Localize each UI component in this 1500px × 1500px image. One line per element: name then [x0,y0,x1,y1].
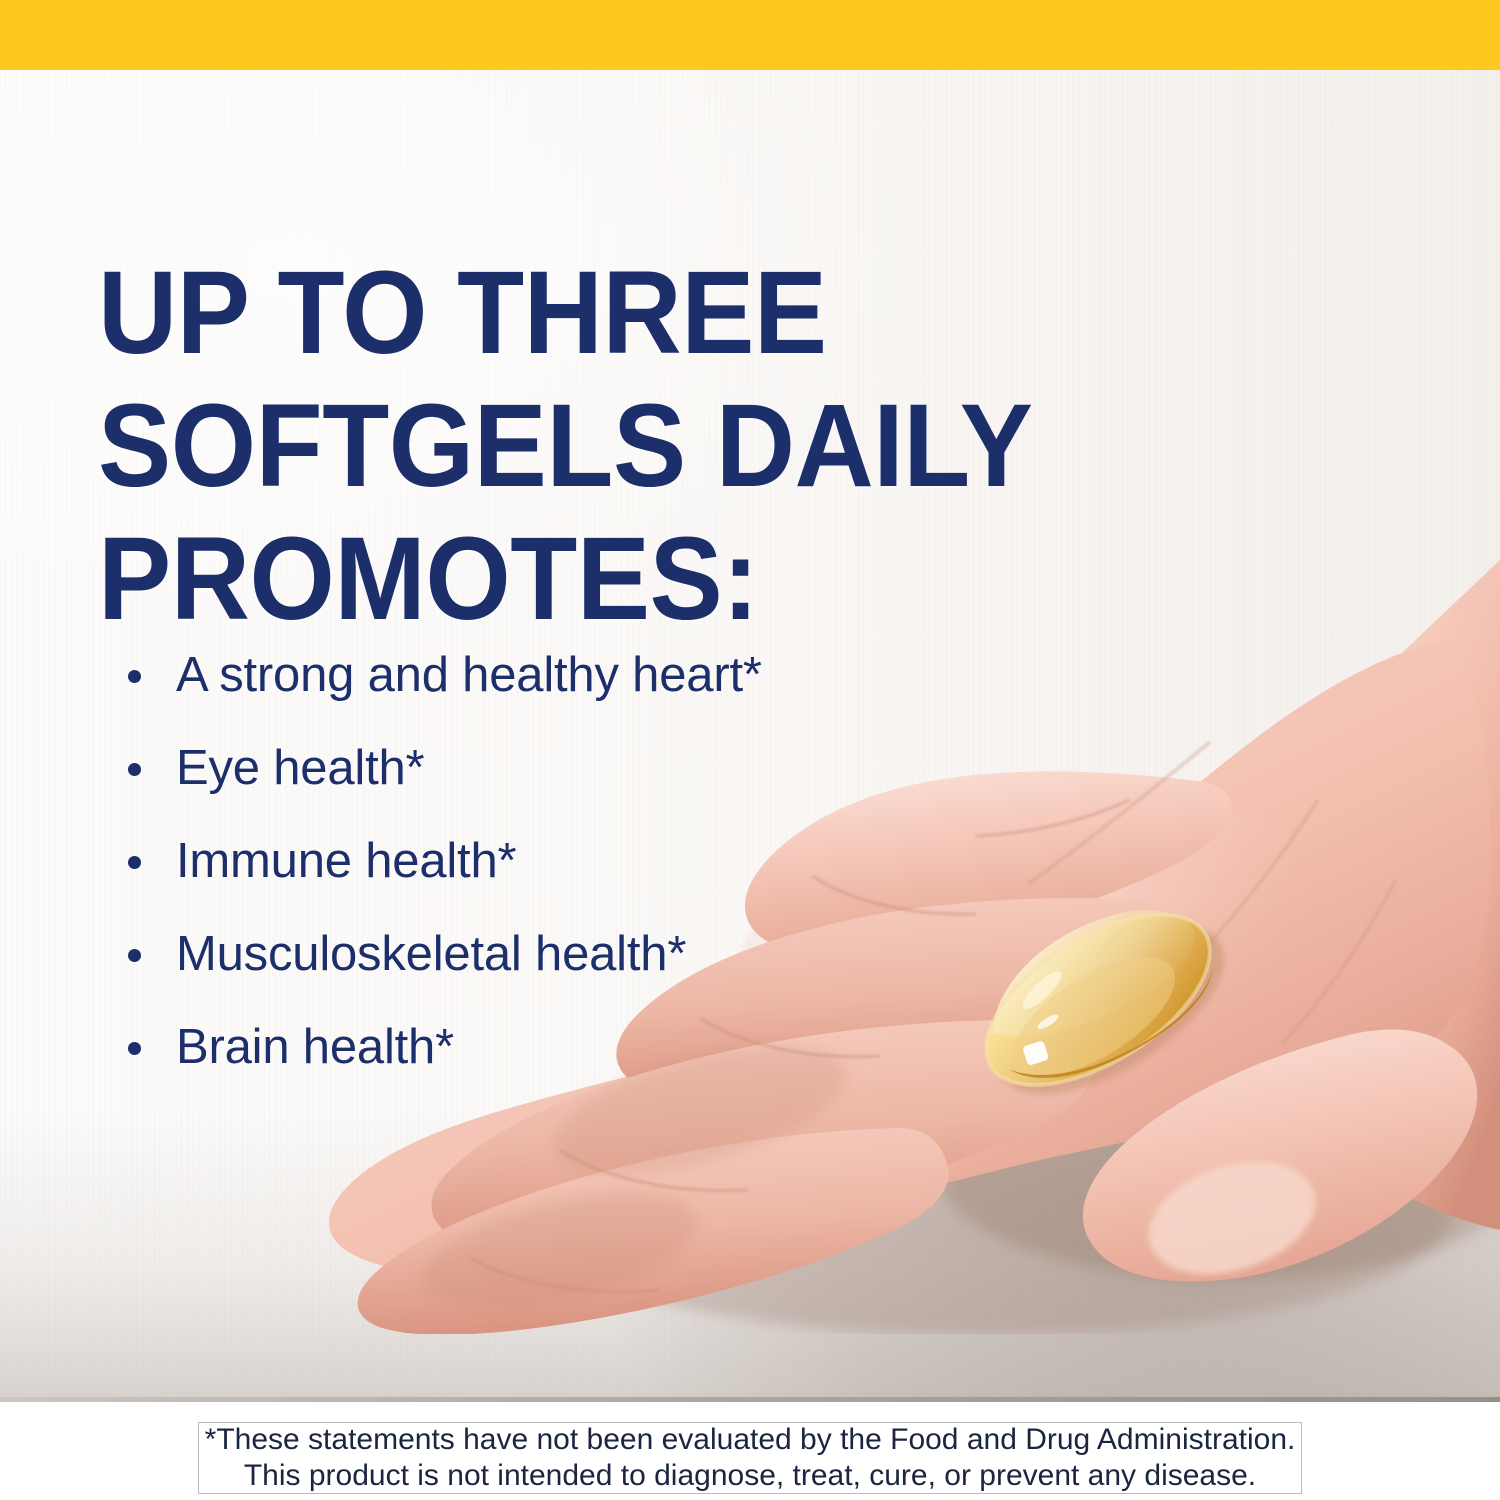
benefit-item-brain: Brain health* [124,1012,762,1105]
benefit-label: Brain health* [176,1020,454,1074]
bullet-dot-icon [128,1042,141,1055]
benefit-item-heart: A strong and healthy heart* [124,640,762,733]
headline-line-2: SOFTGELS DAILY [98,380,1084,513]
bullet-dot-icon [128,763,141,776]
brand-accent-bar [0,0,1500,70]
disclaimer-line-1: *These statements have not been evaluate… [205,1422,1296,1458]
disclaimer-line-2: This product is not intended to diagnose… [244,1458,1256,1494]
page-title: UP TO THREE SOFTGELS DAILY PROMOTES: [98,247,1084,646]
bullet-dot-icon [128,949,141,962]
benefits-list: A strong and healthy heart* Eye health* … [124,640,762,1105]
fda-disclaimer-box: *These statements have not been evaluate… [198,1422,1302,1494]
benefit-item-eye: Eye health* [124,733,762,826]
benefit-item-musculoskeletal: Musculoskeletal health* [124,919,762,1012]
product-benefits-infographic: UP TO THREE SOFTGELS DAILY PROMOTES: A s… [0,0,1500,1500]
footer: *These statements have not been evaluate… [0,1402,1500,1500]
bullet-dot-icon [128,670,141,683]
bullet-dot-icon [128,856,141,869]
headline-line-3: PROMOTES: [98,513,1084,646]
benefit-label: Immune health* [176,834,516,888]
benefit-item-immune: Immune health* [124,826,762,919]
benefit-label: Musculoskeletal health* [176,927,686,981]
benefit-label: A strong and healthy heart* [176,648,762,702]
benefit-label: Eye health* [176,741,424,795]
headline-line-1: UP TO THREE [98,247,1084,380]
